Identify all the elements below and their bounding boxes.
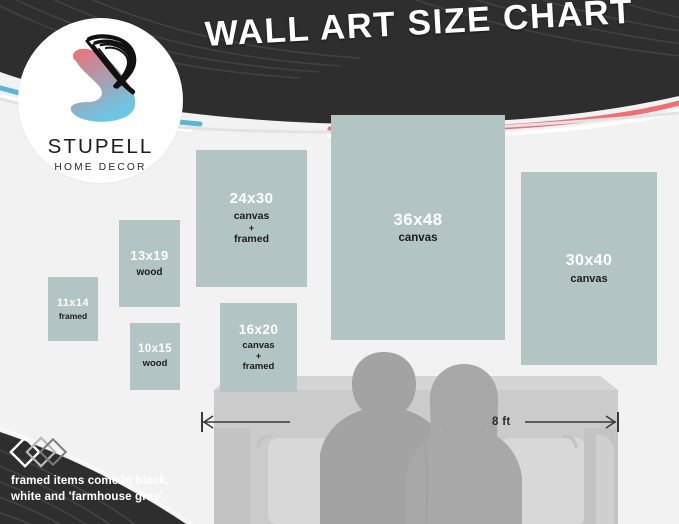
dimension-label-8ft: 8 ft — [492, 416, 510, 428]
art-frame-13x19: 13x19wood — [119, 220, 180, 307]
frame-type-label: framed — [59, 312, 87, 322]
brand-tagline: HOME DECOR — [54, 163, 146, 173]
frame-type-label: canvas+framed — [242, 341, 274, 373]
brand-logo-badge: STUPELL HOME DECOR — [18, 18, 183, 183]
width-dimension-line — [195, 405, 627, 441]
footer-note: framed items come in black, white and 'f… — [11, 473, 169, 505]
frame-type-label: canvas — [570, 273, 607, 285]
frame-type-label: canvas+framed — [234, 211, 270, 245]
art-frame-11x14: 11x14framed — [48, 277, 98, 341]
wall-art-size-chart: 11x14framed13x19wood10x15wood24x30canvas… — [0, 0, 679, 524]
frame-type-label: canvas — [398, 232, 437, 245]
frame-type-label: wood — [143, 359, 168, 370]
frame-size-label: 11x14 — [57, 297, 89, 309]
art-frame-10x15: 10x15wood — [130, 323, 180, 390]
frame-size-label: 30x40 — [566, 252, 613, 270]
frame-size-label: 36x48 — [393, 210, 442, 229]
frame-size-label: 16x20 — [239, 322, 279, 337]
frame-size-label: 24x30 — [230, 191, 274, 208]
frame-size-label: 13x19 — [130, 249, 168, 264]
art-frame-16x20: 16x20canvas+framed — [220, 303, 297, 392]
brand-name: STUPELL — [48, 137, 154, 158]
diamond-outline-trio-icon — [8, 436, 80, 470]
frame-type-label: wood — [136, 267, 162, 278]
art-frame-36x48: 36x48canvas — [331, 115, 505, 340]
frame-size-label: 10x15 — [138, 343, 172, 356]
stupell-swoosh-logo-icon — [43, 31, 159, 135]
art-frame-24x30: 24x30canvas+framed — [196, 150, 307, 287]
art-frame-30x40: 30x40canvas — [521, 172, 657, 365]
